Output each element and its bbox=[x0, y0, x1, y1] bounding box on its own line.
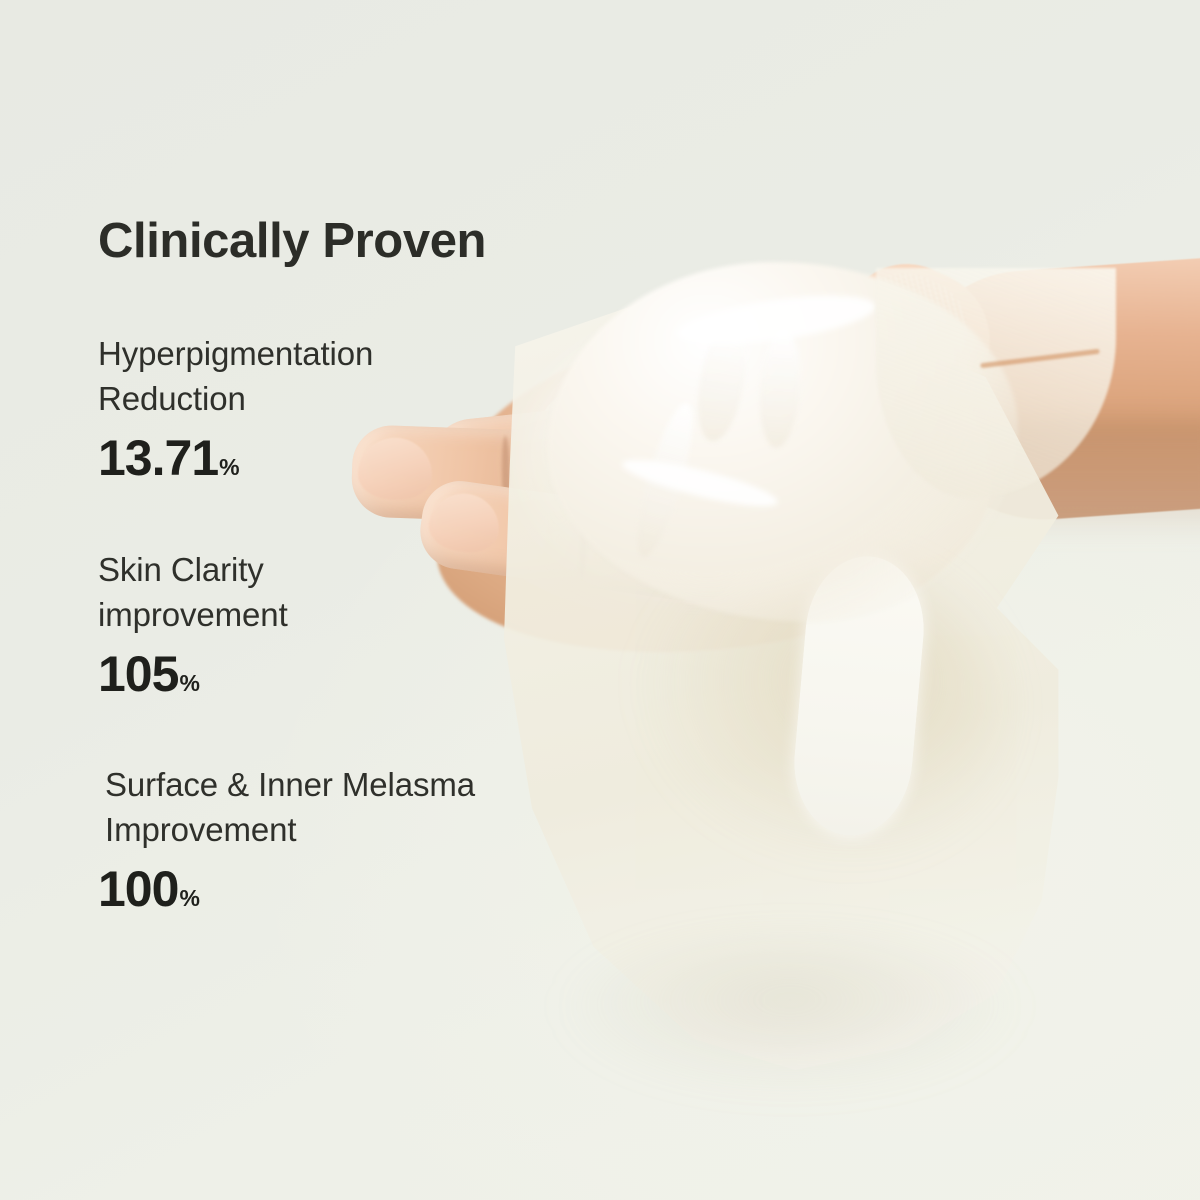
stat-value: 100% bbox=[98, 864, 475, 914]
page-title: Clinically Proven bbox=[98, 213, 486, 269]
stat-value: 105% bbox=[98, 649, 288, 699]
stat-hyperpigmentation: Hyperpigmentation Reduction 13.71% bbox=[98, 332, 373, 483]
stat-unit: % bbox=[219, 454, 239, 480]
stat-melasma: Surface & Inner Melasma Improvement 100% bbox=[98, 763, 475, 914]
stat-skin-clarity: Skin Clarity improvement 105% bbox=[98, 548, 288, 699]
promo-canvas: Clinically Proven Hyperpigmentation Redu… bbox=[0, 0, 1200, 1200]
stat-number: 13.71 bbox=[98, 430, 218, 486]
stat-unit: % bbox=[179, 885, 199, 911]
stat-label: Skin Clarity improvement bbox=[98, 548, 288, 637]
stat-value: 13.71% bbox=[98, 433, 373, 483]
stat-unit: % bbox=[179, 670, 199, 696]
stat-number: 105 bbox=[98, 646, 178, 702]
stat-label: Hyperpigmentation Reduction bbox=[98, 332, 373, 421]
stat-label: Surface & Inner Melasma Improvement bbox=[105, 763, 475, 852]
stat-number: 100 bbox=[98, 861, 178, 917]
text-layer: Clinically Proven Hyperpigmentation Redu… bbox=[0, 0, 1200, 1200]
